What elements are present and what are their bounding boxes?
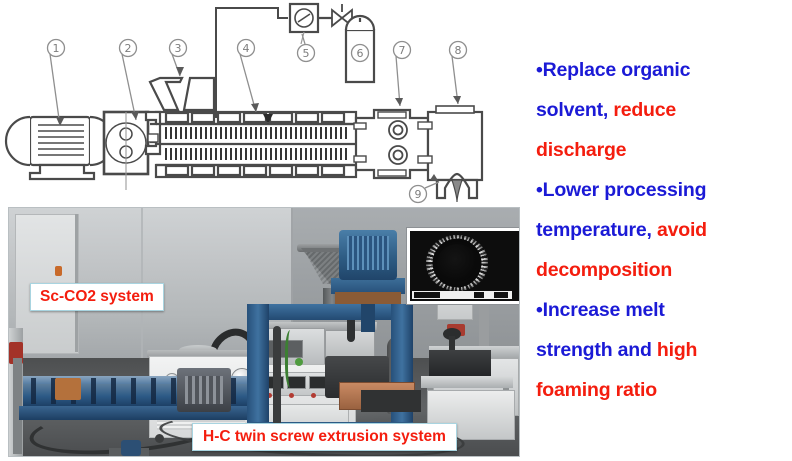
bullet-line-4: •Lower processing bbox=[536, 170, 792, 210]
pressure-gauge bbox=[290, 4, 318, 44]
bullet-seg: strength and bbox=[536, 339, 657, 361]
bullet-line-1: •Replace organic bbox=[536, 50, 792, 90]
bullet-seg: decomposition bbox=[536, 259, 672, 281]
photo-motor-base-plate bbox=[335, 292, 401, 304]
schematic-svg: 1 2 3 4 5 6 7 8 9 bbox=[0, 0, 530, 210]
left-column: 1 2 3 4 5 6 7 8 9 bbox=[0, 0, 530, 461]
bullet-line-3: discharge bbox=[536, 130, 792, 170]
photo-cable bbox=[273, 326, 281, 426]
svg-text:3: 3 bbox=[175, 42, 182, 55]
lab-photograph bbox=[8, 207, 520, 457]
bullet-line-5: temperature, avoid bbox=[536, 210, 792, 250]
photo-blue-motor-fins bbox=[347, 236, 389, 270]
bullet-seg: •Replace organic bbox=[536, 59, 690, 81]
bullet-list: •Replace organic solvent, reduce dischar… bbox=[536, 50, 792, 410]
bullet-seg: foaming ratio bbox=[536, 379, 657, 401]
bullet-line-6: decomposition bbox=[536, 250, 792, 290]
callout-4: 4 bbox=[238, 40, 255, 57]
callout-8: 8 bbox=[450, 42, 467, 59]
co2-injection-line bbox=[216, 8, 288, 124]
drive-motor bbox=[6, 117, 118, 179]
callout-9: 9 bbox=[410, 186, 427, 203]
bullet-seg: avoid bbox=[657, 219, 707, 241]
photo-dark-assembly-2 bbox=[361, 390, 421, 412]
photo-bench-top bbox=[421, 376, 513, 388]
bullet-line-9: foaming ratio bbox=[536, 370, 792, 410]
svg-text:2: 2 bbox=[125, 42, 132, 55]
bullet-seg: solvent, bbox=[536, 99, 613, 121]
bullet-line-2: solvent, reduce bbox=[536, 90, 792, 130]
label-sc-co2-system[interactable]: Sc-CO2 system bbox=[30, 283, 164, 311]
callout-1: 1 bbox=[48, 40, 65, 57]
photo-barrel-bolts bbox=[185, 376, 223, 404]
callout-7: 7 bbox=[394, 42, 411, 59]
callout-3: 3 bbox=[170, 40, 187, 57]
callout-2: 2 bbox=[120, 40, 137, 57]
photo-dark-bench-unit bbox=[429, 350, 491, 376]
bullet-seg: •Lower processing bbox=[536, 179, 706, 201]
svg-text:5: 5 bbox=[303, 47, 310, 60]
svg-text:7: 7 bbox=[399, 44, 406, 57]
callout-5: 5 bbox=[298, 45, 315, 62]
svg-text:9: 9 bbox=[415, 188, 422, 201]
sem-micrograph-inset bbox=[407, 228, 520, 304]
label-hc-extrusion-system[interactable]: H-C twin screw extrusion system bbox=[192, 423, 457, 451]
svg-text:6: 6 bbox=[357, 47, 364, 60]
photo-blue-frame-top bbox=[247, 304, 413, 320]
photo-blue-column-right bbox=[391, 304, 413, 436]
callout-6: 6 bbox=[352, 45, 369, 62]
process-schematic-diagram: 1 2 3 4 5 6 7 8 9 bbox=[0, 0, 530, 210]
photo-indicator-3 bbox=[311, 393, 316, 398]
svg-text:1: 1 bbox=[53, 42, 60, 55]
feed-hopper bbox=[150, 78, 214, 110]
extruder-barrel bbox=[146, 112, 356, 177]
bullet-seg: discharge bbox=[536, 139, 626, 161]
photo-green-indicator bbox=[295, 358, 303, 366]
bullet-line-7: •Increase melt bbox=[536, 290, 792, 330]
svg-text:8: 8 bbox=[455, 44, 462, 57]
photo-floor-valve bbox=[121, 440, 141, 456]
photo-door-knob bbox=[55, 266, 62, 276]
sem-scale-bar bbox=[412, 291, 512, 299]
photo-indicator-2 bbox=[289, 393, 294, 398]
photo-orange-clamp bbox=[55, 378, 81, 400]
bullet-seg: •Increase melt bbox=[536, 299, 665, 321]
bullet-line-8: strength and high bbox=[536, 330, 792, 370]
sem-lumen bbox=[437, 244, 477, 282]
bullet-seg: temperature, bbox=[536, 219, 657, 241]
bullet-seg: high bbox=[657, 339, 697, 361]
svg-text:4: 4 bbox=[243, 42, 250, 55]
bullet-seg: reduce bbox=[613, 99, 676, 121]
